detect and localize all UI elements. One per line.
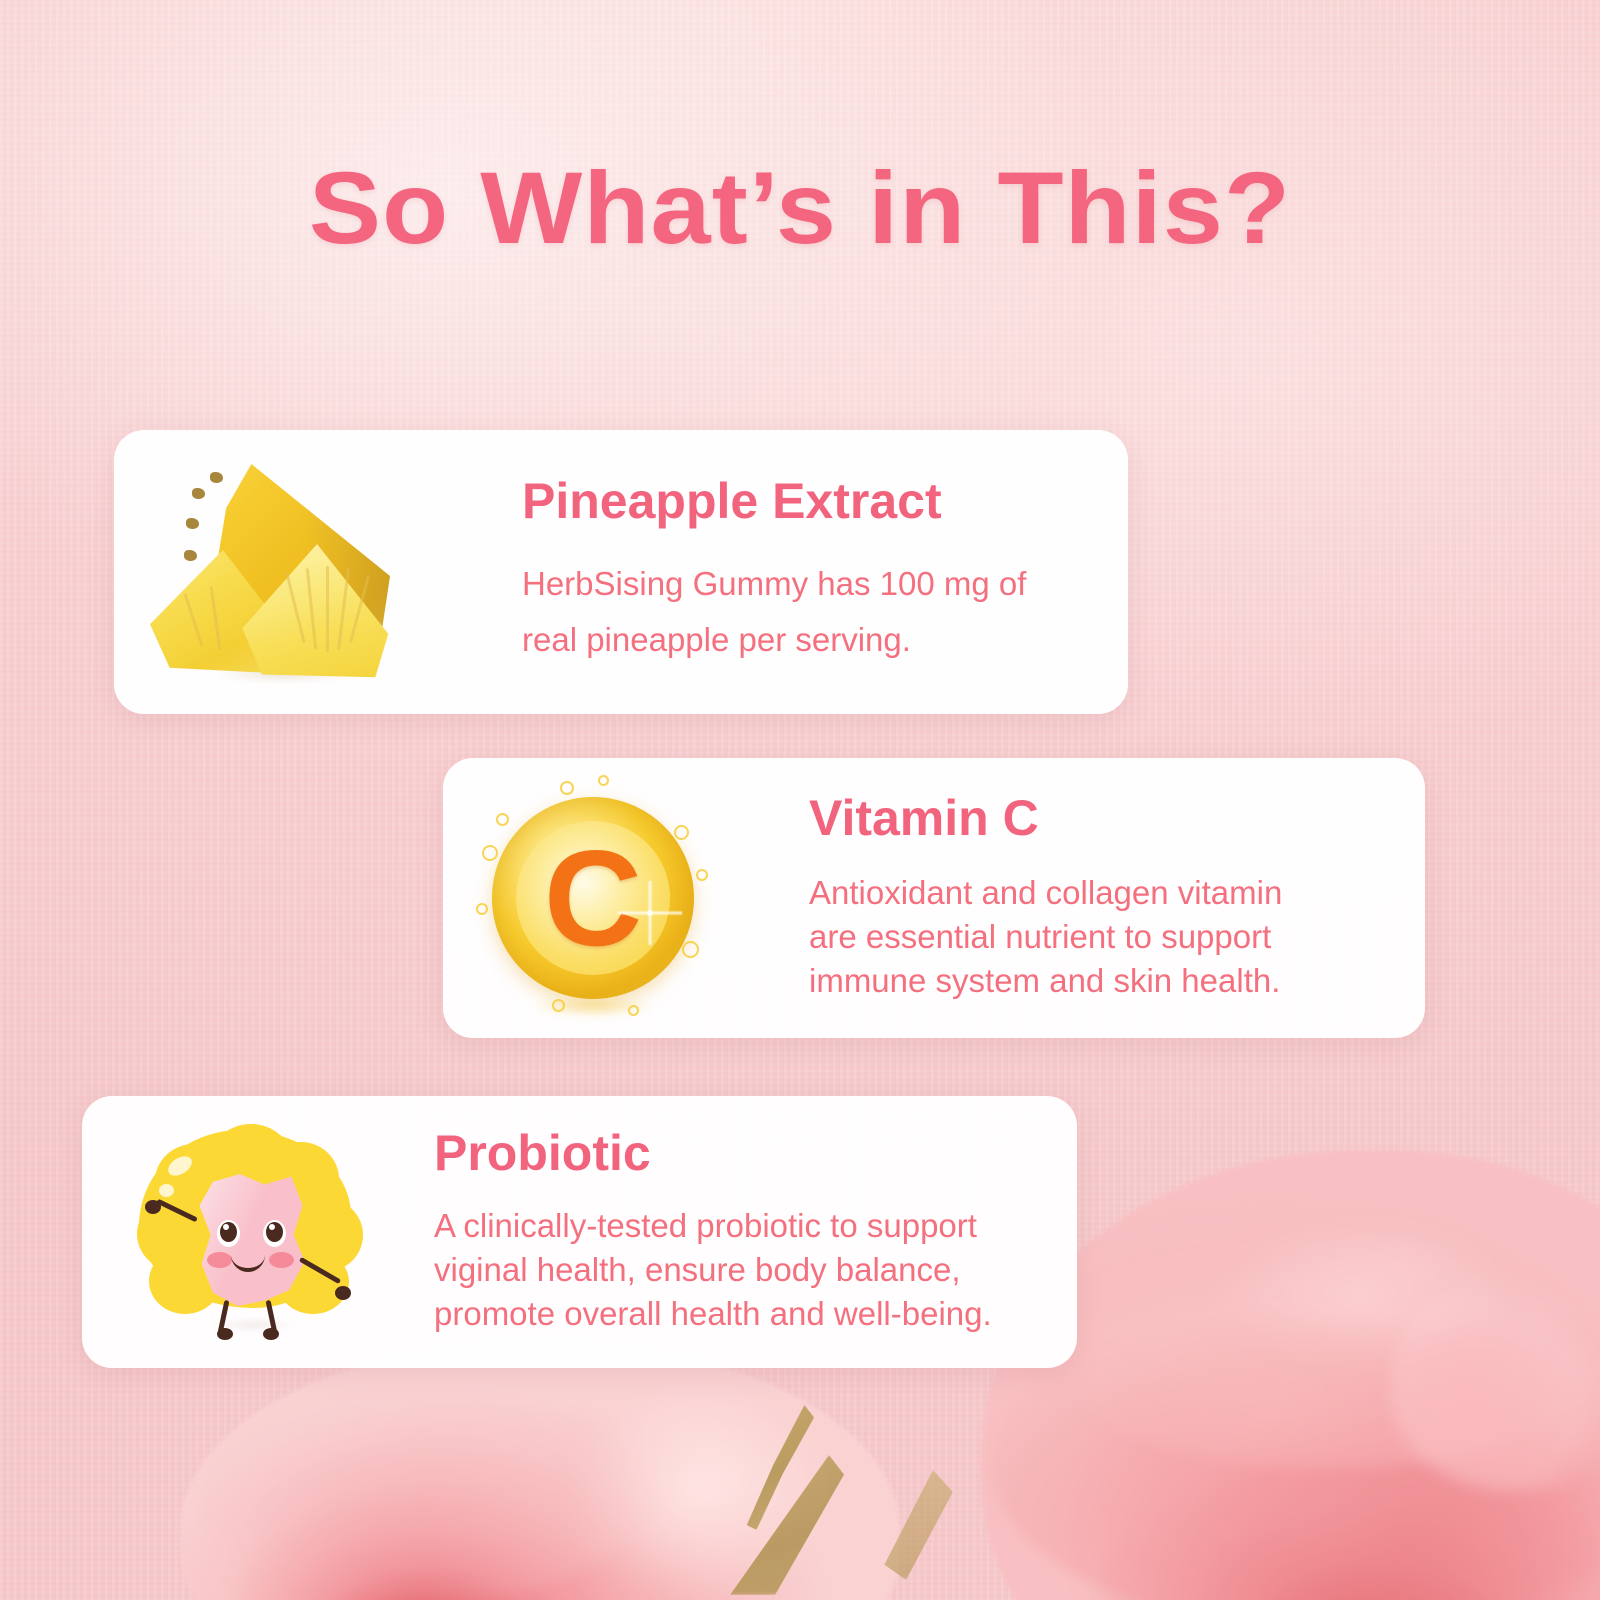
probiotic-card-description: A clinically-tested probiotic to support… bbox=[434, 1204, 1041, 1336]
probiotic-card-body: Probiotic A clinically-tested probiotic … bbox=[392, 1128, 1077, 1336]
ingredient-card-pineapple: Pineapple Extract HerbSising Gummy has 1… bbox=[114, 430, 1128, 714]
pineapple-image-wrapper bbox=[114, 430, 474, 714]
page-title: So What’s in This? bbox=[0, 150, 1600, 267]
vitamin-c-card-description: Antioxidant and collagen vitamin are ess… bbox=[809, 871, 1385, 1003]
probiotic-mascot-icon bbox=[97, 1122, 377, 1342]
pineapple-card-body: Pineapple Extract HerbSising Gummy has 1… bbox=[474, 476, 1128, 668]
probiotic-desc-line-1: A clinically-tested probiotic to support bbox=[434, 1204, 1041, 1248]
vitamin-c-image-wrapper: C bbox=[443, 758, 743, 1038]
probiotic-desc-line-3: promote overall health and well-being. bbox=[434, 1292, 1041, 1336]
vitamin-c-desc-line-3: immune system and skin health. bbox=[809, 959, 1385, 1003]
probiotic-image-wrapper bbox=[82, 1096, 392, 1368]
pineapple-desc-line-1: HerbSising Gummy has 100 mg of bbox=[522, 556, 1098, 612]
vitamin-c-desc-line-2: are essential nutrient to support bbox=[809, 915, 1385, 959]
probiotic-card-title: Probiotic bbox=[434, 1128, 1041, 1178]
ingredient-card-probiotic: Probiotic A clinically-tested probiotic … bbox=[82, 1096, 1077, 1368]
pineapple-card-title: Pineapple Extract bbox=[522, 476, 1098, 526]
vitamin-c-card-body: Vitamin C Antioxidant and collagen vitam… bbox=[743, 793, 1425, 1003]
pineapple-wedges-icon bbox=[144, 452, 444, 692]
pineapple-desc-line-2: real pineapple per serving. bbox=[522, 612, 1098, 668]
vitamin-c-desc-line-1: Antioxidant and collagen vitamin bbox=[809, 871, 1385, 915]
vitamin-c-orb-icon: C bbox=[468, 773, 718, 1023]
probiotic-desc-line-2: viginal health, ensure body balance, bbox=[434, 1248, 1041, 1292]
vitamin-c-card-title: Vitamin C bbox=[809, 793, 1385, 843]
ingredient-card-vitamin-c: C Vitamin C Antioxidant and collagen vit… bbox=[443, 758, 1425, 1038]
pineapple-card-description: HerbSising Gummy has 100 mg of real pine… bbox=[522, 556, 1098, 668]
